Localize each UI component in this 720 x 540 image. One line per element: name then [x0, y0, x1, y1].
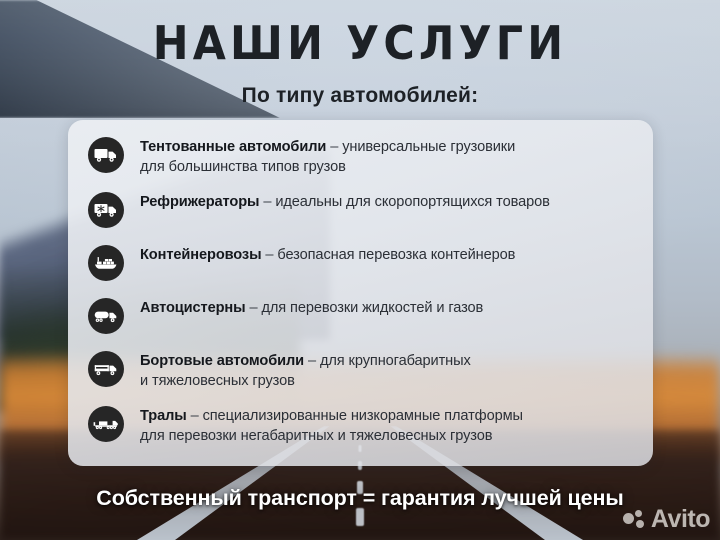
- service-dash: –: [187, 408, 203, 424]
- service-name: Тентованные автомобили: [140, 139, 326, 155]
- avito-logo-icon: [623, 509, 647, 531]
- list-item-text: Тентованные автомобили – универсальные г…: [140, 134, 515, 177]
- service-dash: –: [261, 247, 277, 263]
- service-dash: –: [246, 300, 262, 316]
- service-dash: –: [259, 194, 275, 210]
- tanker-truck-icon: [88, 298, 124, 334]
- service-desc-line1: специализированные низкорамные платформы: [203, 408, 523, 424]
- service-desc-line2: для перевозки негабаритных и тяжеловесны…: [140, 428, 492, 444]
- service-desc-line1: идеальны для скоропортящихся товаров: [275, 194, 549, 210]
- service-dash: –: [326, 139, 342, 155]
- container-ship-icon: [88, 245, 124, 281]
- service-name: Контейнеровозы: [140, 247, 261, 263]
- list-item: Контейнеровозы – безопасная перевозка ко…: [88, 242, 635, 295]
- service-name: Автоцистерны: [140, 300, 246, 316]
- poster: НАШИ УСЛУГИ По типу автомобилей: Тентова…: [0, 0, 720, 540]
- list-item-text: Контейнеровозы – безопасная перевозка ко…: [140, 242, 515, 265]
- service-desc-line1: для крупногабаритных: [320, 353, 471, 369]
- services-list: Тентованные автомобили – универсальные г…: [88, 134, 635, 458]
- list-item-text: Рефрижераторы – идеальны для скоропортящ…: [140, 189, 550, 212]
- service-desc-line1: универсальные грузовики: [342, 139, 515, 155]
- list-item-text: Автоцистерны – для перевозки жидкостей и…: [140, 295, 483, 318]
- lowboy-trailer-icon: [88, 406, 124, 442]
- flatbed-truck-icon: [88, 351, 124, 387]
- list-item-text: Бортовые автомобили – для крупногабаритн…: [140, 348, 471, 391]
- service-dash: –: [304, 353, 320, 369]
- avito-watermark: Avito: [623, 507, 710, 532]
- service-name: Бортовые автомобили: [140, 353, 304, 369]
- page-title: НАШИ УСЛУГИ: [25, 16, 695, 70]
- page-subtitle: По типу автомобилей:: [0, 84, 720, 108]
- service-name: Рефрижераторы: [140, 194, 259, 210]
- box-truck-icon: [88, 137, 124, 173]
- avito-watermark-text: Avito: [651, 507, 710, 532]
- service-desc-line1: для перевозки жидкостей и газов: [261, 300, 483, 316]
- service-name: Тралы: [140, 408, 187, 424]
- list-item: Бортовые автомобили – для крупногабаритн…: [88, 348, 635, 403]
- service-desc-line1: безопасная перевозка контейнеров: [277, 247, 515, 263]
- list-item: Тралы – специализированные низкорамные п…: [88, 403, 635, 458]
- service-desc-line2: и тяжеловесных грузов: [140, 373, 295, 389]
- service-desc-line2: для большинства типов грузов: [140, 159, 346, 175]
- list-item-text: Тралы – специализированные низкорамные п…: [140, 403, 523, 446]
- list-item: Автоцистерны – для перевозки жидкостей и…: [88, 295, 635, 348]
- refrigerated-truck-icon: [88, 192, 124, 228]
- list-item: Рефрижераторы – идеальны для скоропортящ…: [88, 189, 635, 242]
- list-item: Тентованные автомобили – универсальные г…: [88, 134, 635, 189]
- tagline: Собственный транспорт = гарантия лучшей …: [0, 486, 720, 511]
- services-card: Тентованные автомобили – универсальные г…: [68, 120, 653, 466]
